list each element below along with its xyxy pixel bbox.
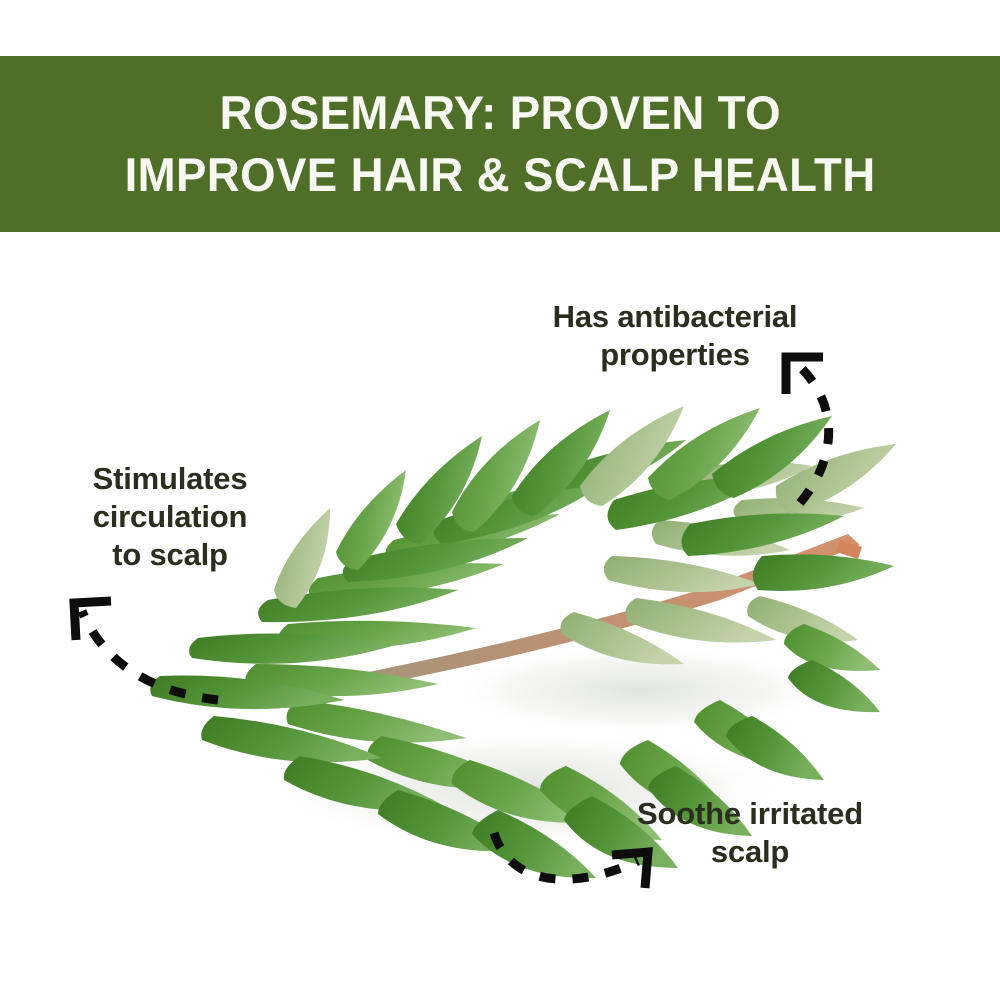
callout-soothe-line-2: scalp	[575, 833, 925, 871]
callout-circulation: Stimulates circulation to scalp	[30, 460, 310, 573]
callout-soothe: Soothe irritated scalp	[575, 795, 925, 871]
callout-soothe-line-1: Soothe irritated	[575, 795, 925, 833]
infographic-canvas: ROSEMARY: PROVEN TO IMPROVE HAIR & SCALP…	[0, 0, 1000, 1000]
callout-circulation-line-3: to scalp	[30, 536, 310, 574]
callout-antibacterial-line-2: properties	[470, 336, 880, 374]
callout-circulation-line-1: Stimulates	[30, 460, 310, 498]
callout-antibacterial: Has antibacterial properties	[470, 298, 880, 374]
callout-circulation-line-2: circulation	[30, 498, 310, 536]
callout-antibacterial-line-1: Has antibacterial	[470, 298, 880, 336]
